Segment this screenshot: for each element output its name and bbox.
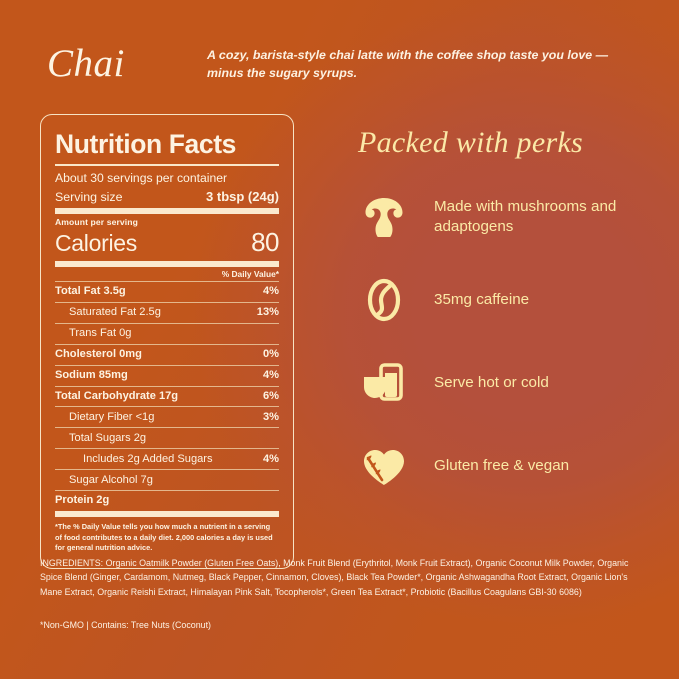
nutrient-name: Trans Fat 0g: [55, 327, 131, 340]
nutrition-facts-title: Nutrition Facts: [55, 130, 279, 159]
perk-label: Serve hot or cold: [434, 373, 549, 393]
calories-label: Calories: [55, 230, 137, 257]
nutrition-facts-card: Nutrition Facts About 30 servings per co…: [40, 114, 294, 569]
nutrient-daily-value: 4%: [263, 369, 279, 382]
perk-item: Gluten free & vegan: [358, 435, 648, 497]
divider: [55, 365, 279, 366]
ingredients-text: INGREDIENTS: Organic Oatmilk Powder (Glu…: [40, 556, 638, 599]
servings-per-container: About 30 servings per container: [55, 166, 279, 188]
nutrient-rows: Total Fat 3.5g4%Saturated Fat 2.5g13%Tra…: [55, 282, 279, 517]
nutrient-name: Total Fat 3.5g: [55, 285, 126, 298]
nutrient-daily-value: 4%: [263, 453, 279, 466]
nutrient-row: Total Carbohydrate 17g6%: [55, 387, 279, 407]
perks-section: Packed with perks Made with mushrooms an…: [358, 128, 648, 518]
header: Chai A cozy, barista-style chai latte wi…: [42, 34, 639, 106]
nutrient-row: Trans Fat 0g: [55, 324, 279, 344]
nutrient-name: Cholesterol 0mg: [55, 348, 142, 361]
daily-value-footnote: *The % Daily Value tells you how much a …: [55, 517, 279, 556]
amount-per-serving-label: Amount per serving: [55, 214, 279, 227]
serving-size-row: Serving size 3 tbsp (24g): [55, 188, 279, 208]
nutrient-name: Sugar Alcohol 7g: [55, 474, 153, 487]
calories-value: 80: [251, 227, 279, 258]
nutrient-daily-value: 3%: [263, 411, 279, 424]
coffee-bean-icon: [358, 274, 410, 326]
nutrient-name: Sodium 85mg: [55, 369, 128, 382]
heart-wheat-icon: [358, 440, 410, 492]
nutrient-name: Protein 2g: [55, 494, 109, 507]
divider: [55, 302, 279, 303]
divider: [55, 427, 279, 428]
perk-item: Made with mushrooms and adaptogens: [358, 186, 648, 248]
nutrient-row: Dietary Fiber <1g3%: [55, 407, 279, 427]
nutrient-daily-value: 13%: [257, 306, 279, 319]
perks-list: Made with mushrooms and adaptogens35mg c…: [358, 186, 648, 497]
nutrient-row: Protein 2g: [55, 491, 279, 511]
divider: [55, 386, 279, 387]
serving-size-value: 3 tbsp (24g): [206, 189, 279, 204]
nutrient-name: Includes 2g Added Sugars: [55, 453, 213, 466]
nutrient-daily-value: 6%: [263, 390, 279, 403]
daily-value-header: % Daily Value*: [55, 267, 279, 281]
allergen-text: *Non-GMO | Contains: Tree Nuts (Coconut): [40, 620, 211, 630]
calories-row: Calories 80: [55, 227, 279, 261]
nutrient-row: Includes 2g Added Sugars4%: [55, 449, 279, 469]
nutrient-daily-value: 4%: [263, 285, 279, 298]
nutrient-row: Sugar Alcohol 7g: [55, 470, 279, 490]
divider: [55, 469, 279, 470]
nutrient-daily-value: 0%: [263, 348, 279, 361]
nutrient-row: Saturated Fat 2.5g13%: [55, 303, 279, 323]
nutrient-row: Cholesterol 0mg0%: [55, 345, 279, 365]
mushroom-icon: [358, 191, 410, 243]
perk-item: 35mg caffeine: [358, 269, 648, 331]
nutrient-name: Total Sugars 2g: [55, 432, 146, 445]
nutrient-row: Sodium 85mg4%: [55, 366, 279, 386]
nutrient-name: Saturated Fat 2.5g: [55, 306, 161, 319]
nutrient-row: Total Fat 3.5g4%: [55, 282, 279, 302]
divider: [55, 406, 279, 407]
hot-or-cold-icon: [358, 357, 410, 409]
product-label-page: Chai A cozy, barista-style chai latte wi…: [0, 0, 679, 679]
nutrient-name: Dietary Fiber <1g: [55, 411, 154, 424]
perks-title: Packed with perks: [358, 128, 648, 158]
divider: [55, 448, 279, 449]
serving-size-label: Serving size: [55, 190, 123, 204]
nutrient-name: Total Carbohydrate 17g: [55, 390, 178, 403]
divider: [55, 344, 279, 345]
perk-item: Serve hot or cold: [358, 352, 648, 414]
perk-label: Made with mushrooms and adaptogens: [434, 197, 648, 237]
nutrient-row: Total Sugars 2g: [55, 428, 279, 448]
divider: [55, 490, 279, 491]
tagline: A cozy, barista-style chai latte with th…: [207, 47, 627, 82]
perk-label: Gluten free & vegan: [434, 456, 569, 476]
perk-label: 35mg caffeine: [434, 290, 529, 310]
page-title: Chai: [47, 44, 125, 83]
divider: [55, 323, 279, 324]
divider: [55, 281, 279, 282]
